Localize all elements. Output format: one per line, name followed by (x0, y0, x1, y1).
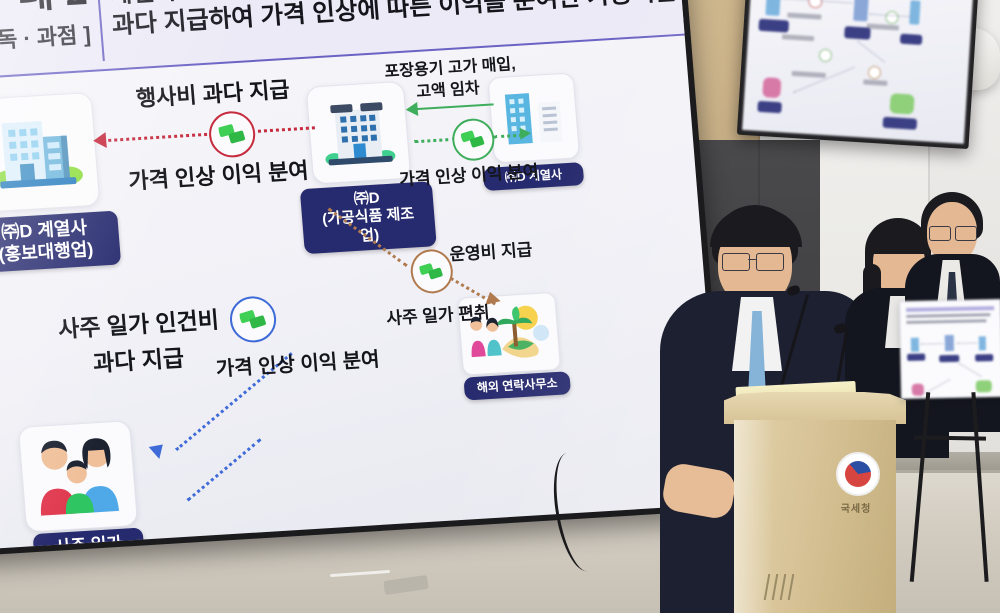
board-title-rule (906, 306, 994, 312)
board-title-text (906, 319, 986, 324)
podium-decorative-slits (766, 574, 792, 600)
flow-packaging-arrowhead (405, 102, 418, 117)
board-flow-line (920, 379, 950, 396)
mini-money-icon (819, 49, 833, 63)
headline-line-2: 과다 지급하여 가격 인상에 따른 이익을 분여한 가공식품 제조업체 (111, 0, 677, 42)
main-presentation-screen[interactable]: 례 2 독 · 과점 ] 계열사에 행사비, 포장용기 매입대가와 사주 일가에… (0, 0, 729, 556)
office-building-icon (0, 109, 87, 197)
mini-money-icon (885, 11, 899, 25)
screen-surface: 례 2 독 · 과점 ] 계열사에 행사비, 포장용기 매입대가와 사주 일가에… (0, 0, 722, 550)
flow-labor-cost-label-line-1: 사주 일가 인건비 (57, 301, 220, 345)
mini-money-icon (868, 66, 882, 80)
case-subtag: 독 · 과점 ] (0, 17, 92, 55)
node-affiliate-right-icon (487, 72, 580, 163)
mini-flow-label (863, 79, 887, 85)
label-line-1: 해외 연락사무소 (472, 376, 563, 396)
flow-packaging-label-line-2: 고액 임차 (415, 74, 480, 102)
podium-agency-label: 국세청 (832, 500, 880, 515)
mini-flow-label (787, 12, 821, 19)
mini-flow-label (867, 24, 899, 31)
official-2-glasses-right (955, 226, 977, 241)
money-icon (461, 129, 487, 150)
taeguk-symbol (845, 461, 871, 487)
mini-node-label (757, 101, 782, 113)
easel-board (899, 299, 1000, 399)
case-number: 례 2 (16, 0, 89, 15)
mini-node-icon (853, 0, 869, 22)
speaker-hair-top (710, 209, 802, 247)
mini-node-label (758, 19, 789, 33)
family-icon (29, 433, 127, 520)
flow-event-fee-line-right (251, 126, 315, 133)
node-company-d-icon (306, 81, 412, 185)
government-taeguk-emblem (836, 452, 880, 496)
flow-profit-share-3-money-icon (228, 295, 278, 344)
flow-event-fee-arrowhead (93, 132, 107, 149)
flow-profit-share-2-money-icon (451, 117, 496, 161)
flow-event-fee-label: 행사비 과다 지급 (135, 72, 291, 113)
board-node-label (975, 354, 993, 361)
flow-profit-share-2-line-left (414, 138, 456, 144)
slide-case-tag: 례 2 독 · 과점 ] (0, 0, 105, 71)
flow-operating-cost-money-icon (409, 248, 454, 294)
flow-labor-cost-arrowhead (147, 441, 163, 459)
flow-profit-share-1-label: 가격 인상 이익 분여 (127, 153, 310, 196)
flow-event-fee-money-icon (207, 110, 257, 159)
board-flow-line (957, 342, 977, 343)
board-node-icon (976, 380, 992, 392)
node-overseas-office-label: 해외 연락사무소 (463, 371, 571, 400)
speaker-glasses-bridge (748, 259, 756, 260)
secondary-monitor-surface (742, 0, 974, 144)
node-affiliate-pr-icon (0, 92, 100, 213)
board-flow-line (959, 363, 982, 377)
board-node-icon (911, 338, 919, 352)
mini-flow-line (782, 0, 808, 1)
mini-flow-line (857, 41, 885, 63)
secondary-monitor[interactable] (737, 0, 979, 149)
mini-node-icon (889, 93, 914, 114)
board-flow-line (921, 343, 943, 344)
board-title-text (906, 313, 990, 318)
board-node-label (907, 354, 925, 361)
money-icon (218, 123, 246, 147)
tower-building-icon (496, 83, 571, 153)
screenshot-root: 청 rvice 례 2 독 · 과점 ] 계열사에 행사비, 포장용기 매입대가… (0, 0, 1000, 613)
flow-labor-cost-label-line-2: 과다 지급 (92, 339, 186, 378)
mini-node-icon (762, 77, 781, 98)
flow-packaging-line (416, 103, 494, 110)
mini-node-label (883, 117, 918, 130)
podium: 국세청 (724, 392, 906, 613)
board-node-icon (945, 335, 954, 351)
slide-diagram: ㈜D 계열사 (홍보대행업) (0, 36, 722, 550)
mini-node-icon (909, 0, 920, 25)
board-node-label (939, 355, 959, 362)
flow-operating-cost-label: 운영비 지급 (448, 235, 533, 265)
money-icon (419, 261, 445, 282)
node-affiliate-pr-label: ㈜D 계열사 (홍보대행업) (0, 211, 121, 274)
speaker-glasses-right (756, 253, 784, 271)
money-icon (239, 308, 267, 332)
mini-flow-line (820, 1, 852, 4)
speaker-glasses-left (722, 253, 750, 271)
board-node-icon (979, 336, 986, 350)
mini-flow-label (782, 34, 814, 41)
factory-building-icon (316, 93, 402, 172)
flow-profit-share-2-arrowhead (520, 127, 532, 140)
mini-node-label (900, 34, 923, 45)
flow-event-fee-line-left (101, 133, 213, 143)
flow-labor-cost-line-lower (187, 438, 262, 501)
node-owner-family-icon (18, 420, 138, 532)
node-company-d-label: ㈜D (가공식품 제조업) (300, 181, 437, 254)
flow-profit-share-3-label: 가격 인상 이익 분여 (215, 343, 381, 382)
mini-flow-label (792, 71, 826, 78)
mini-node-icon (765, 0, 781, 16)
board-node-icon (912, 384, 924, 396)
official-2-glasses-left (929, 226, 951, 241)
